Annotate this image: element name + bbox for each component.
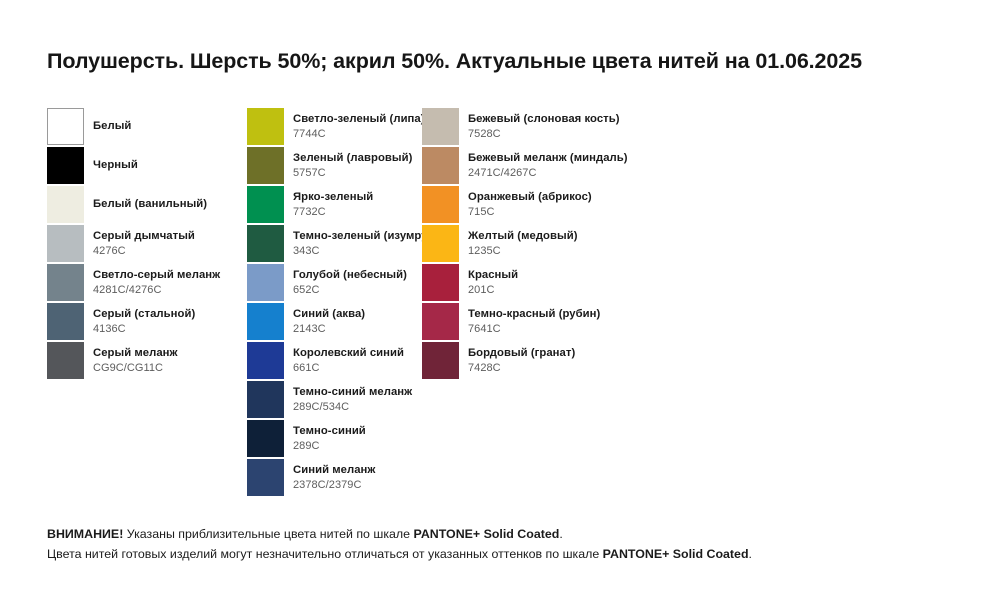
swatch-name: Голубой (небесный) [293, 268, 407, 282]
swatch-name: Темно-синий меланж [293, 385, 412, 399]
swatch-pantone-code: CG9C/CG11C [93, 361, 178, 375]
footer-line-1: ВНИМАНИЕ! Указаны приблизительные цвета … [47, 524, 752, 544]
swatch-pantone-code: 7641C [468, 322, 600, 336]
color-swatch [422, 147, 459, 184]
color-swatch [247, 303, 284, 340]
color-swatch [47, 342, 84, 379]
swatch-name: Оранжевый (абрикос) [468, 190, 592, 204]
swatch-labels: Бежевый меланж (миндаль)2471C/4267C [468, 147, 628, 184]
swatch-labels: Темно-красный (рубин)7641C [468, 303, 600, 340]
swatch-labels: Королевский синий661C [293, 342, 404, 379]
color-swatch [47, 186, 84, 223]
color-swatch [247, 108, 284, 145]
swatch-pantone-code: 2378C/2379C [293, 478, 376, 492]
swatch-name: Светло-серый меланж [93, 268, 220, 282]
footer-note: ВНИМАНИЕ! Указаны приблизительные цвета … [47, 524, 752, 564]
swatch-labels: Серый (стальной)4136C [93, 303, 195, 340]
swatch-labels: Светло-зеленый (липа)7744C [293, 108, 425, 145]
color-swatch [47, 225, 84, 262]
swatch-pantone-code: 4276C [93, 244, 195, 258]
color-swatch [47, 303, 84, 340]
swatch-labels: Черный [93, 147, 138, 184]
swatch-labels: Темно-синий меланж289C/534C [293, 381, 412, 418]
swatch-name: Темно-зеленый (изумруд) [293, 229, 438, 243]
footer-line-2-end: . [749, 547, 752, 561]
color-swatch [247, 459, 284, 496]
swatch-name: Бордовый (гранат) [468, 346, 575, 360]
swatch-pantone-code: 4281C/4276C [93, 283, 220, 297]
footer-brand-2: PANTONE+ Solid Coated [603, 547, 749, 561]
swatch-labels: Зеленый (лавровый)5757C [293, 147, 412, 184]
color-swatch [247, 381, 284, 418]
color-swatch [422, 108, 459, 145]
swatch-labels: Синий меланж2378C/2379C [293, 459, 376, 496]
swatch-name: Темно-синий [293, 424, 366, 438]
color-swatch [422, 303, 459, 340]
footer-line-2-text: Цвета нитей готовых изделий могут незнач… [47, 547, 603, 561]
color-swatch [247, 264, 284, 301]
swatch-labels: Белый (ванильный) [93, 186, 207, 223]
color-swatch [47, 108, 84, 145]
color-swatch [422, 264, 459, 301]
color-swatch [247, 147, 284, 184]
swatch-labels: Светло-серый меланж4281C/4276C [93, 264, 220, 301]
swatch-pantone-code: 289C/534C [293, 400, 412, 414]
swatch-pantone-code: 2143C [293, 322, 365, 336]
swatch-pantone-code: 2471C/4267C [468, 166, 628, 180]
swatch-name: Серый (стальной) [93, 307, 195, 321]
swatch-name: Красный [468, 268, 518, 282]
swatch-labels: Белый [93, 108, 131, 145]
footer-line-1-text: Указаны приблизительные цвета нитей по ш… [123, 527, 413, 541]
color-swatch [247, 186, 284, 223]
swatch-labels: Темно-зеленый (изумруд)343C [293, 225, 438, 262]
color-chart-page: Полушерсть. Шерсть 50%; акрил 50%. Актуа… [0, 0, 1000, 609]
swatch-pantone-code: 652C [293, 283, 407, 297]
footer-brand-1: PANTONE+ Solid Coated [413, 527, 559, 541]
swatch-labels: Бордовый (гранат)7428C [468, 342, 575, 379]
swatch-name: Бежевый меланж (миндаль) [468, 151, 628, 165]
swatch-labels: Ярко-зеленый7732C [293, 186, 373, 223]
color-swatch [247, 225, 284, 262]
swatch-pantone-code: 7732C [293, 205, 373, 219]
footer-line-2: Цвета нитей готовых изделий могут незнач… [47, 544, 752, 564]
color-swatch [422, 225, 459, 262]
color-swatch [422, 342, 459, 379]
swatch-labels: Синий (аква)2143C [293, 303, 365, 340]
swatch-pantone-code: 289C [293, 439, 366, 453]
swatch-labels: Темно-синий289C [293, 420, 366, 457]
color-swatch [47, 264, 84, 301]
swatch-labels: Бежевый (слоновая кость)7528C [468, 108, 620, 145]
swatch-name: Белый (ванильный) [93, 197, 207, 211]
swatch-labels: Голубой (небесный)652C [293, 264, 407, 301]
swatch-name: Желтый (медовый) [468, 229, 578, 243]
swatch-pantone-code: 4136C [93, 322, 195, 336]
swatch-pantone-code: 7528C [468, 127, 620, 141]
swatch-name: Бежевый (слоновая кость) [468, 112, 620, 126]
swatch-name: Светло-зеленый (липа) [293, 112, 425, 126]
swatch-pantone-code: 7428C [468, 361, 575, 375]
swatch-pantone-code: 5757C [293, 166, 412, 180]
swatch-name: Черный [93, 158, 138, 172]
swatch-labels: Желтый (медовый)1235C [468, 225, 578, 262]
swatch-name: Белый [93, 119, 131, 133]
swatch-name: Синий меланж [293, 463, 376, 477]
page-title: Полушерсть. Шерсть 50%; акрил 50%. Актуа… [47, 49, 862, 74]
swatch-pantone-code: 343C [293, 244, 438, 258]
color-swatch [422, 186, 459, 223]
color-swatch [47, 147, 84, 184]
swatch-labels: Серый дымчатый4276C [93, 225, 195, 262]
swatch-name: Серый дымчатый [93, 229, 195, 243]
swatch-name: Темно-красный (рубин) [468, 307, 600, 321]
swatch-pantone-code: 661C [293, 361, 404, 375]
footer-attention-label: ВНИМАНИЕ! [47, 527, 123, 541]
color-swatch [247, 420, 284, 457]
swatch-labels: Красный201C [468, 264, 518, 301]
swatch-pantone-code: 1235C [468, 244, 578, 258]
footer-line-1-end: . [559, 527, 562, 541]
color-swatch [247, 342, 284, 379]
swatch-pantone-code: 7744C [293, 127, 425, 141]
swatch-labels: Оранжевый (абрикос)715C [468, 186, 592, 223]
swatch-name: Зеленый (лавровый) [293, 151, 412, 165]
swatch-name: Королевский синий [293, 346, 404, 360]
swatch-pantone-code: 715C [468, 205, 592, 219]
swatch-name: Серый меланж [93, 346, 178, 360]
swatch-name: Ярко-зеленый [293, 190, 373, 204]
swatch-labels: Серый меланжCG9C/CG11C [93, 342, 178, 379]
swatch-pantone-code: 201C [468, 283, 518, 297]
swatch-name: Синий (аква) [293, 307, 365, 321]
